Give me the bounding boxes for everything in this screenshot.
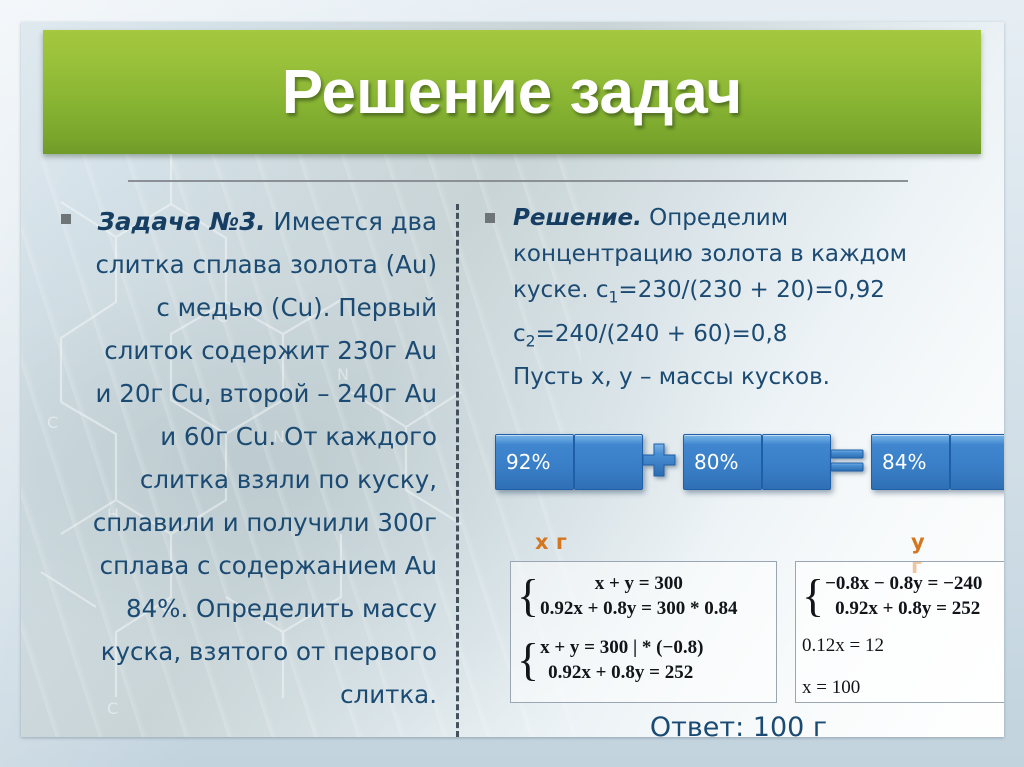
bar-gold-1: 92% bbox=[495, 434, 574, 490]
solution-line-1-cont: =230/(230 + 20)=0,92 bbox=[618, 277, 884, 303]
solution-line-3: Пусть х, у – массы кусков. bbox=[513, 364, 830, 390]
slide-content: Задача №3. Имеется два слитка сплава зол… bbox=[21, 156, 1004, 737]
page-title: Решение задач bbox=[43, 30, 981, 154]
problem-lead: Задача №3. bbox=[98, 207, 266, 236]
eq-3-line-1: −0.8x − 0.8y = −240 bbox=[825, 571, 982, 596]
eq-1-line-2: 0.92x + 0.8y = 300 * 0.84 bbox=[540, 596, 737, 621]
column-dashed-divider bbox=[456, 204, 459, 737]
slide-outer-frame: N C H C N O N C Решение задач Задача №3. bbox=[0, 0, 1024, 767]
solution-line-2-prefix: с bbox=[513, 321, 526, 347]
bar-pair-2: 80% bbox=[683, 434, 831, 490]
solution-statement: Решение. Определим концентрацию золота в… bbox=[513, 200, 933, 395]
solution-line-1-subscript: 1 bbox=[608, 288, 618, 307]
bar-copper-1 bbox=[574, 434, 643, 490]
equals-icon bbox=[829, 442, 865, 478]
solution-lead: Решение. bbox=[513, 205, 642, 231]
diagram-group-1: З М 92% х г bbox=[495, 434, 643, 490]
equation-box-left: { x + y = 300 0.92x + 0.8y = 300 * 0.84 … bbox=[510, 561, 777, 703]
title-banner: Решение задач bbox=[43, 30, 981, 154]
eq-step-1: 0.12x = 12 bbox=[802, 631, 1003, 661]
solution-line-2-cont: =240/(240 + 60)=0,8 bbox=[536, 321, 788, 347]
bar-gold-3: 84% bbox=[871, 434, 950, 490]
plus-icon bbox=[641, 442, 677, 478]
bar-copper-2 bbox=[762, 434, 831, 490]
bullet-square-icon bbox=[61, 214, 71, 224]
equation-system-3: { −0.8x − 0.8y = −240 0.92x + 0.8y = 252 bbox=[802, 571, 1003, 621]
answer-line: Ответ: 100 г bbox=[473, 712, 1004, 737]
bar-pair-3: 84% bbox=[871, 434, 1004, 490]
slide-canvas: N C H C N O N C Решение задач Задача №3. bbox=[21, 22, 1004, 737]
solution-line-2-subscript: 2 bbox=[526, 331, 536, 350]
eq-2-line-2: 0.92x + 0.8y = 252 bbox=[540, 660, 703, 685]
eq-1-line-1: x + y = 300 bbox=[540, 571, 737, 596]
equation-system-2: { x + y = 300 | * (−0.8) 0.92x + 0.8y = … bbox=[517, 635, 770, 685]
problem-statement: Задача №3. Имеется два слитка сплава зол… bbox=[85, 200, 437, 716]
brace-icon: { bbox=[517, 640, 539, 680]
equation-box-right: { −0.8x − 0.8y = −240 0.92x + 0.8y = 252… bbox=[795, 561, 1004, 703]
bar-copper-3 bbox=[950, 434, 1004, 490]
problem-body: Имеется два слитка сплава золота (Au) с … bbox=[93, 207, 437, 709]
alloy-bar-diagram: З М 92% х г bbox=[473, 406, 1004, 556]
bullet-square-icon bbox=[485, 213, 495, 223]
bar-gold-2: 80% bbox=[683, 434, 762, 490]
header-divider-rule bbox=[128, 180, 908, 182]
eq-3-line-2: 0.92x + 0.8y = 252 bbox=[825, 596, 982, 621]
brace-icon: { bbox=[802, 576, 824, 616]
bar-pair-1: 92% bbox=[495, 434, 643, 490]
diagram-group-2: З М 80% у г bbox=[683, 434, 831, 490]
eq-2-line-1: x + y = 300 | * (−0.8) bbox=[540, 635, 703, 660]
brace-icon: { bbox=[517, 576, 539, 616]
eq-step-2: x = 100 bbox=[802, 673, 1003, 703]
mass-label-1: х г bbox=[535, 530, 567, 554]
diagram-group-3: З М 84% 300г bbox=[871, 434, 1004, 490]
equation-system-1: { x + y = 300 0.92x + 0.8y = 300 * 0.84 bbox=[517, 571, 770, 621]
